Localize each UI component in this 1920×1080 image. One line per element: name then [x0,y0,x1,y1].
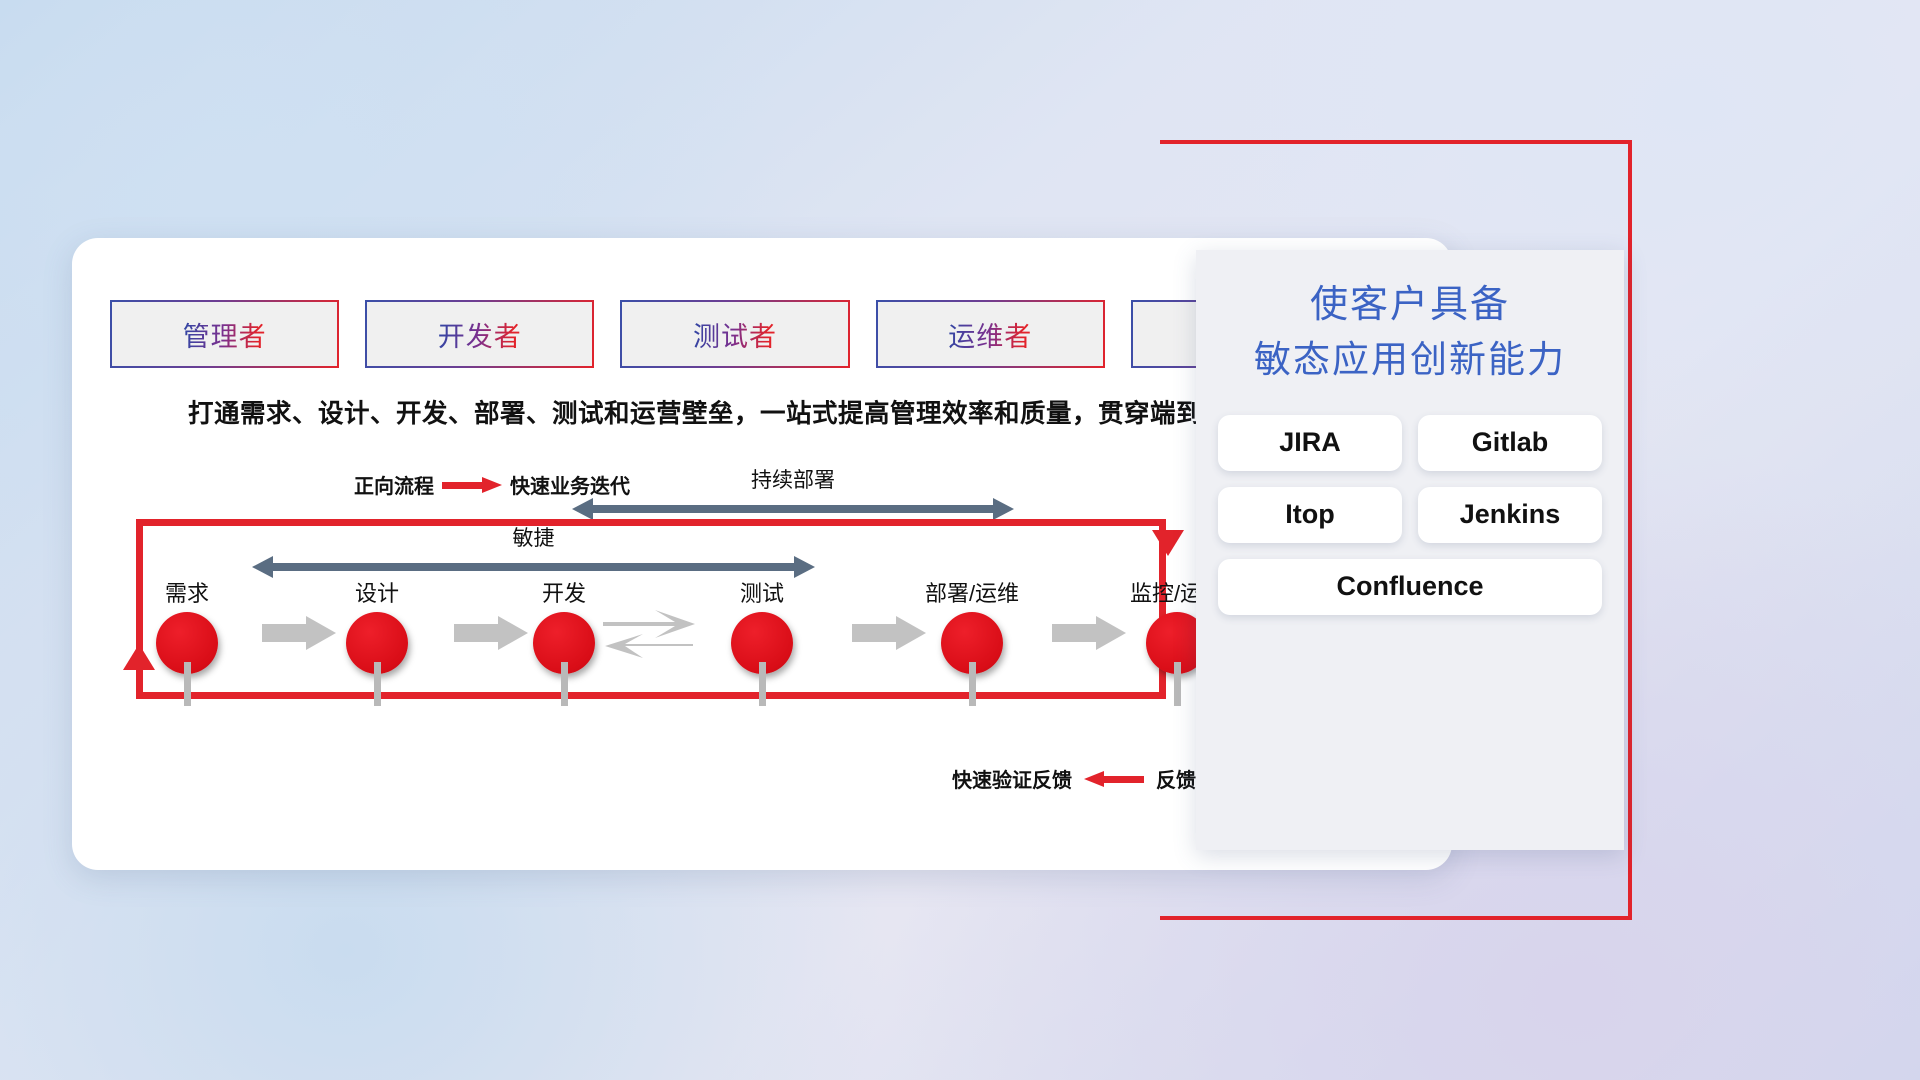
span-label: 持续部署 [572,464,1014,494]
legend-feedback-loop: 快速验证反馈 反馈闭环 [952,764,1236,793]
tool-chip-gitlab[interactable]: Gitlab [1418,415,1602,471]
panel-title-line1: 使客户具备 [1310,284,1510,326]
legend-forward-source-label: 正向流程 [354,470,434,499]
arrow-right-gray-icon [1052,616,1126,650]
role-box-manager[interactable]: 管理者 [110,300,339,368]
pipeline-node-stem [759,662,766,706]
tool-chip-confluence[interactable]: Confluence [1218,559,1602,615]
pipeline-node-label: 需求 [107,576,267,608]
description-text: 打通需求、设计、开发、部署、测试和运营壁垒，一站式提高管理效率和质量，贯穿端到端… [122,393,1372,430]
arrow-right-gray-icon [454,616,528,650]
arrow-head-right-icon [993,498,1014,520]
tool-chip-list: JIRA Gitlab Itop Jenkins Confluence [1218,415,1602,615]
pipeline-node-stem [184,662,191,706]
tool-chip-label: JIRA [1279,427,1341,458]
pipeline-node-label: 测试 [682,576,842,608]
pipeline-node-label: 设计 [297,576,457,608]
pipeline-node-requirements[interactable]: 需求 [107,576,267,674]
tool-chip-label: Gitlab [1472,427,1549,458]
legend-feedback-target-label: 快速验证反馈 [952,764,1072,793]
arrow-right-gray-icon [262,616,336,650]
pipeline-node-label: 部署/运维 [892,576,1052,608]
tool-chip-itop[interactable]: Itop [1218,487,1402,543]
arrow-right-red-icon [442,477,502,493]
arrow-right-gray-icon [852,616,926,650]
tool-chip-jira[interactable]: JIRA [1218,415,1402,471]
role-label: 管理者 [183,315,267,354]
pipeline-node-stem [561,662,568,706]
role-box-developer[interactable]: 开发者 [365,300,594,368]
arrow-loop-back-icon [599,608,701,668]
panel-title: 使客户具备 敏态应用创新能力 [1218,278,1602,387]
pipeline-row: 需求 设计 开发 测试 部署/运维 监控/运营 [112,576,1352,706]
arrow-bar [591,505,995,513]
role-box-operations-maintenance[interactable]: 运维者 [876,300,1105,368]
panel-title-line2: 敏态应用创新能力 [1218,333,1602,387]
right-feature-panel: 使客户具备 敏态应用创新能力 JIRA Gitlab Itop Jenkins … [1196,250,1624,850]
red-bracket-stub-bottom [1160,916,1200,920]
pipeline-node-stem [374,662,381,706]
arrow-left-red-icon [1084,771,1144,787]
double-arrow-icon [572,498,1014,520]
role-label: 开发者 [438,315,522,354]
tool-chip-jenkins[interactable]: Jenkins [1418,487,1602,543]
span-continuous-deployment: 持续部署 [572,498,1014,520]
role-label: 测试者 [693,315,777,354]
role-label: 运维者 [948,315,1032,354]
loop-arrow-down-icon [1152,530,1184,556]
pipeline-node-stem [969,662,976,706]
pipeline-node-stem [1174,662,1181,706]
tool-chip-label: Itop [1285,499,1334,530]
pipeline-node-testing[interactable]: 测试 [682,576,842,674]
tool-chip-label: Confluence [1336,571,1483,602]
tool-chip-label: Jenkins [1460,499,1561,530]
arrow-head-left-icon [572,498,593,520]
role-boxes-row: 管理者 开发者 测试者 运维者 运营者 [110,300,1360,368]
role-box-tester[interactable]: 测试者 [620,300,849,368]
pipeline-node-label: 开发 [484,576,644,608]
red-bracket-stub-top [1160,140,1200,144]
